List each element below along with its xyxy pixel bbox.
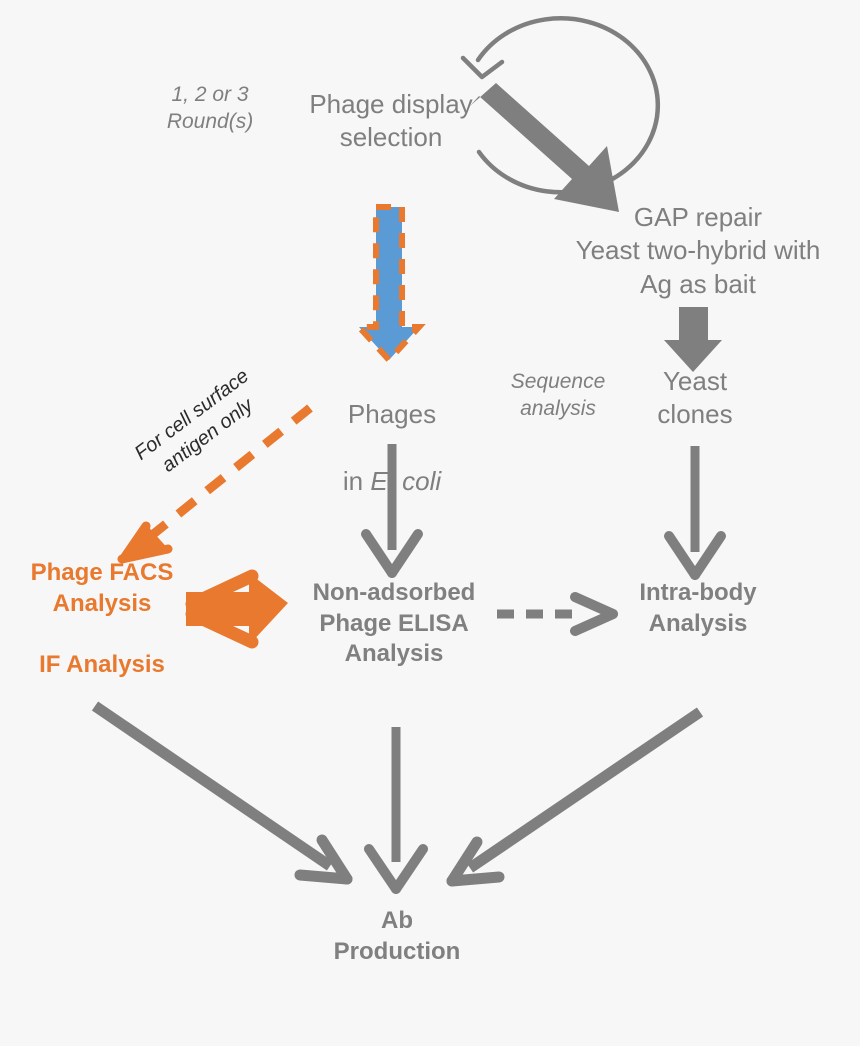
node-intrabody-analysis: Intra-body Analysis (612, 578, 784, 639)
facs-to-ab-production-arrow (95, 706, 347, 879)
gap-repair-to-yeast-clones-arrow (664, 307, 722, 372)
node-yeast-clones: Yeast clones (625, 365, 765, 432)
node-if-analysis: IF Analysis (16, 650, 188, 681)
elisa-to-facs-arrow (186, 573, 288, 645)
node-non-adsorbed-phage-elisa-analysis: Non-adsorbed Phage ELISA Analysis (292, 578, 496, 670)
yeast-clones-to-intrabody-arrow (669, 446, 721, 575)
node-gap-repair: GAP repair Yeast two-hybrid with Ag as b… (548, 201, 848, 301)
selection-to-phages-arrow (359, 207, 419, 360)
node-phage-facs-analysis: Phage FACS Analysis (16, 558, 188, 619)
node-phage-display-selection: Phage display selection (283, 88, 499, 155)
elisa-to-ab-production-arrow (369, 727, 423, 889)
node-phages-in-ecoli: Phages in E. coli (312, 365, 472, 531)
intrabody-to-ab-production-arrow (452, 712, 700, 881)
elisa-to-intrabody-dashed-arrow (497, 597, 613, 631)
sequence-analysis-label: Sequence analysis (492, 369, 624, 423)
flowchart-canvas: 1, 2 or 3 Round(s) Phage display selecti… (0, 0, 860, 1046)
rounds-note-label: 1, 2 or 3 Round(s) (145, 82, 275, 136)
node-ab-production: Ab Production (312, 906, 482, 967)
phages-in-ecoli-line-2: in E. coli (312, 465, 472, 498)
phages-in-ecoli-line-1: Phages (312, 398, 472, 431)
phages-in-ecoli-prefix: in (343, 466, 370, 496)
phages-in-ecoli-species: E. coli (370, 466, 441, 496)
